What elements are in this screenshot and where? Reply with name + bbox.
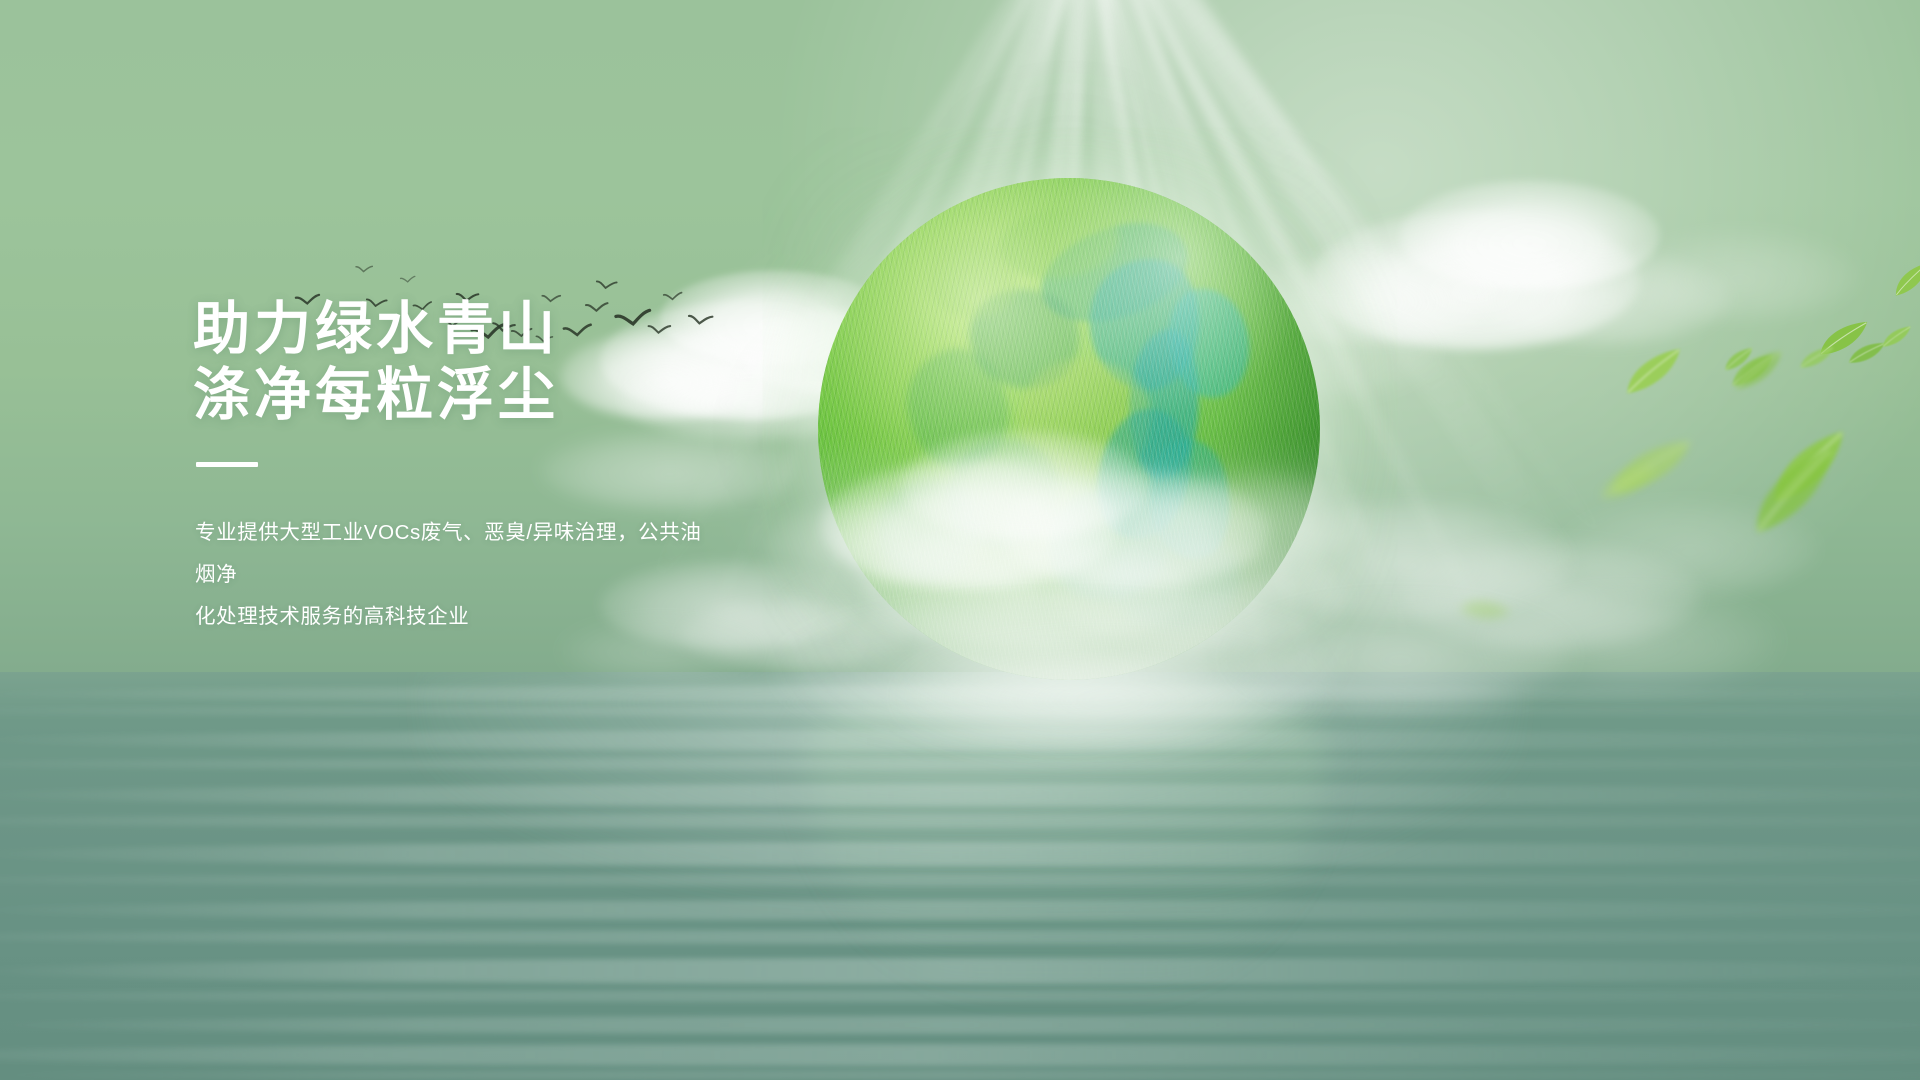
subtitle-line-2: 化处理技术服务的高科技企业 <box>195 596 720 638</box>
subtitle: 专业提供大型工业VOCs废气、恶臭/异味治理，公共油烟净 化处理技术服务的高科技… <box>195 512 720 638</box>
headline-line-2: 涤净每粒浮尘 <box>193 362 833 428</box>
water-ripple <box>0 958 1920 984</box>
bird-icon <box>355 262 374 281</box>
water-ripple <box>0 874 1920 886</box>
water-ripple <box>0 730 1920 750</box>
water-ripple <box>0 930 1920 944</box>
water-ripple <box>0 784 1920 806</box>
headline-line-1: 助力绿水青山 <box>193 296 833 362</box>
headline-divider <box>196 462 258 467</box>
water-ripple <box>0 814 1920 828</box>
water-ripple <box>0 1070 1920 1080</box>
water-ripple <box>0 706 1920 716</box>
water-ripple <box>0 1016 1920 1034</box>
water-ripple <box>0 900 1920 920</box>
water-ripple <box>0 686 1920 702</box>
water-ripple <box>0 758 1920 770</box>
water-surface <box>0 672 1920 1080</box>
bird-icon <box>399 271 417 290</box>
globe <box>818 178 1320 680</box>
subtitle-line-1: 专业提供大型工业VOCs废气、恶臭/异味治理，公共油烟净 <box>195 512 720 596</box>
water-ripple <box>0 990 1920 1002</box>
water-ripple <box>0 1044 1920 1066</box>
hero-copy: 助力绿水青山 涤净每粒浮尘 专业提供大型工业VOCs废气、恶臭/异味治理，公共油… <box>193 296 833 638</box>
hero-banner: 助力绿水青山 涤净每粒浮尘 专业提供大型工业VOCs废气、恶臭/异味治理，公共油… <box>0 0 1920 1080</box>
globe-fog <box>818 439 1320 680</box>
water-ripple <box>0 842 1920 866</box>
globe-sphere <box>818 178 1320 680</box>
